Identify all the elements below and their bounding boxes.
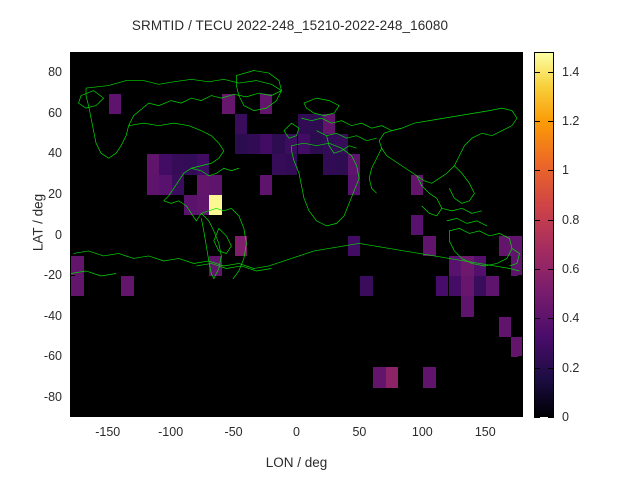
colorbar-tick	[548, 269, 554, 270]
colorbar-tick	[548, 121, 554, 122]
y-axis-tick	[70, 235, 75, 236]
data-cell	[360, 276, 373, 296]
x-axis-tick-label: -100	[158, 425, 183, 439]
colorbar-tick-label: 1.2	[562, 114, 579, 128]
x-axis-tick-label: 100	[412, 425, 433, 439]
x-axis-tick	[171, 412, 172, 417]
y-axis-tick	[518, 356, 523, 357]
data-cell	[386, 367, 399, 387]
x-axis-tick	[234, 412, 235, 417]
y-axis-tick	[518, 153, 523, 154]
data-cell	[71, 276, 84, 296]
colorbar-tick-label: 0.4	[562, 311, 579, 325]
x-axis-tick	[171, 52, 172, 57]
map-plot-area	[70, 52, 523, 417]
colorbar-tick-label: 1.4	[562, 65, 579, 79]
x-axis-label: LON / deg	[70, 455, 523, 470]
colorbar-tick	[534, 121, 540, 122]
x-axis-tick	[359, 52, 360, 57]
data-cell	[461, 296, 474, 316]
x-axis-tick	[359, 412, 360, 417]
data-cell	[461, 276, 474, 296]
data-cell	[423, 367, 436, 387]
colorbar-tick	[548, 72, 554, 73]
x-axis-tick	[422, 52, 423, 57]
x-axis-tick	[297, 52, 298, 57]
colorbar-tick	[548, 318, 554, 319]
colorbar-tick-label: 0.6	[562, 262, 579, 276]
x-axis-tick	[485, 52, 486, 57]
y-axis-tick	[70, 397, 75, 398]
x-axis-tick-label: -150	[95, 425, 120, 439]
y-axis-tick-label: 80	[22, 65, 62, 79]
x-axis-tick-label: 150	[475, 425, 496, 439]
y-axis-tick-label: -80	[22, 390, 62, 404]
x-axis-tick	[297, 412, 298, 417]
colorbar-tick	[548, 220, 554, 221]
colorbar-tick-label: 0	[562, 410, 569, 424]
data-cell	[373, 367, 386, 387]
y-axis-tick	[518, 316, 523, 317]
y-axis-tick	[70, 153, 75, 154]
y-axis-tick	[70, 72, 75, 73]
y-axis-tick	[518, 397, 523, 398]
data-cell	[121, 276, 134, 296]
srmtid-tecu-map-figure: SRMTID / TECU 2022-248_15210-2022-248_16…	[0, 0, 640, 480]
y-axis-tick	[70, 113, 75, 114]
colorbar-tick	[534, 220, 540, 221]
colorbar-tick	[534, 170, 540, 171]
data-cell	[436, 276, 449, 296]
colorbar-tick-label: 0.2	[562, 361, 579, 375]
x-axis-tick-label: -50	[225, 425, 243, 439]
y-axis-tick	[70, 316, 75, 317]
y-axis-tick	[518, 275, 523, 276]
x-axis-tick	[485, 412, 486, 417]
coastline-layer	[71, 53, 522, 279]
data-cell	[474, 276, 487, 296]
y-axis-label: LAT / deg	[31, 163, 46, 283]
colorbar-tick	[548, 417, 554, 418]
y-axis-tick	[518, 235, 523, 236]
data-cell	[486, 276, 499, 296]
chart-title: SRMTID / TECU 2022-248_15210-2022-248_16…	[0, 18, 580, 33]
colorbar-tick-label: 1	[562, 163, 569, 177]
y-axis-tick-label: 40	[22, 146, 62, 160]
x-axis-tick	[108, 412, 109, 417]
y-axis-tick-label: -60	[22, 349, 62, 363]
colorbar-tick	[534, 269, 540, 270]
x-axis-tick	[108, 52, 109, 57]
x-axis-tick-label: 0	[293, 425, 300, 439]
colorbar-tick	[534, 318, 540, 319]
y-axis-tick	[518, 113, 523, 114]
y-axis-tick	[518, 194, 523, 195]
x-axis-tick-label: 50	[352, 425, 366, 439]
y-axis-tick-label: 60	[22, 106, 62, 120]
colorbar-tick	[534, 368, 540, 369]
colorbar-tick	[534, 72, 540, 73]
data-cell	[499, 317, 512, 337]
y-axis-tick	[70, 275, 75, 276]
colorbar-tick	[534, 417, 540, 418]
y-axis-tick	[70, 194, 75, 195]
x-axis-tick	[234, 52, 235, 57]
colorbar	[534, 52, 554, 417]
data-cell	[511, 337, 523, 357]
y-axis-tick	[70, 356, 75, 357]
data-cell	[449, 276, 462, 296]
colorbar-tick	[548, 170, 554, 171]
colorbar-tick-label: 0.8	[562, 213, 579, 227]
y-axis-tick-label: -40	[22, 309, 62, 323]
x-axis-tick	[422, 412, 423, 417]
colorbar-tick	[548, 368, 554, 369]
y-axis-tick	[518, 72, 523, 73]
